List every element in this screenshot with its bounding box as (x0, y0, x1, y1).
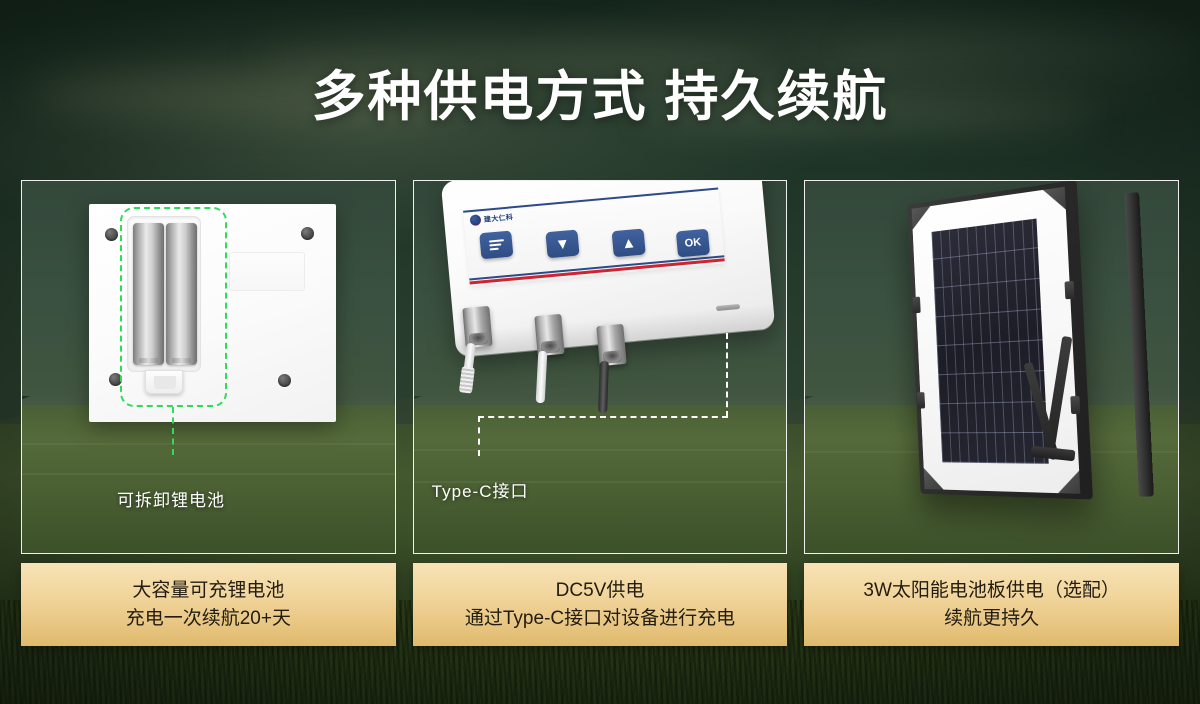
mount-clip (913, 297, 921, 314)
typec-callout-line-horizontal (478, 416, 728, 418)
battery-callout-label: 可拆卸锂电池 (117, 486, 225, 511)
panel-type-c: 25.6 Temperature & Humidity 建大仁科 ▼ ▲ OK (413, 180, 788, 554)
battery-highlight-box (120, 207, 227, 407)
caption-battery: 大容量可充锂电池 充电一次续航20+天 (21, 563, 396, 646)
screw-icon (301, 227, 314, 240)
brand-logo: 建大仁科 (469, 211, 513, 226)
panel-row: 可拆卸锂电池 25.6 Temperature & Humidity 建大仁科 (21, 180, 1179, 554)
caption-line-2: 续航更持久 (944, 605, 1039, 633)
photo-field-streak (414, 449, 787, 451)
caption-line-1: 大容量可充锂电池 (132, 577, 284, 605)
mount-clip (917, 392, 925, 408)
brand-logo-icon (469, 214, 481, 226)
battery-callout-line (172, 407, 174, 455)
cable-gland (534, 314, 564, 356)
chevron-down-icon[interactable]: ▼ (545, 229, 579, 258)
photo-field-streak (22, 473, 395, 475)
caption-line-2: 充电一次续航20+天 (126, 605, 291, 633)
caption-solar: 3W太阳能电池板供电（选配） 续航更持久 (804, 563, 1179, 646)
photo-field-streak (22, 443, 395, 445)
caption-line-2: 通过Type-C接口对设备进行充电 (465, 605, 735, 633)
page-title: 多种供电方式 持久续航 (0, 52, 1200, 131)
typec-callout-label: Type-C接口 (432, 477, 529, 502)
mount-clip (1065, 281, 1075, 299)
brand-logo-text: 建大仁科 (483, 212, 513, 225)
caption-line-1: 3W太阳能电池板供电（选配） (863, 577, 1120, 605)
caption-row: 大容量可充锂电池 充电一次续航20+天 DC5V供电 通过Type-C接口对设备… (21, 563, 1179, 646)
cable-gland (462, 306, 492, 348)
screw-icon (278, 374, 291, 387)
sensor-cable (535, 351, 547, 403)
sensor-device: 25.6 Temperature & Humidity 建大仁科 ▼ ▲ OK (432, 180, 782, 427)
typec-callout-line-vertical (726, 333, 728, 417)
solar-panel-product (845, 186, 1145, 536)
menu-lines (488, 237, 504, 253)
solar-cell-grid (932, 219, 1049, 464)
mount-clip (1071, 396, 1081, 414)
screw-icon (105, 228, 118, 241)
menu-icon[interactable] (479, 230, 513, 259)
ok-icon[interactable]: OK (676, 229, 710, 258)
panel-solar (804, 180, 1179, 554)
backplate-recess (229, 252, 305, 291)
photo-field (22, 405, 395, 553)
chevron-up-icon[interactable]: ▲ (611, 228, 645, 257)
caption-line-1: DC5V供电 (556, 577, 645, 605)
sensor-cable (598, 361, 609, 413)
typec-callout-line-drop (478, 416, 480, 456)
cable-gland (596, 324, 626, 366)
panel-removable-battery: 可拆卸锂电池 (21, 180, 396, 554)
caption-type-c: DC5V供电 通过Type-C接口对设备进行充电 (413, 563, 788, 646)
